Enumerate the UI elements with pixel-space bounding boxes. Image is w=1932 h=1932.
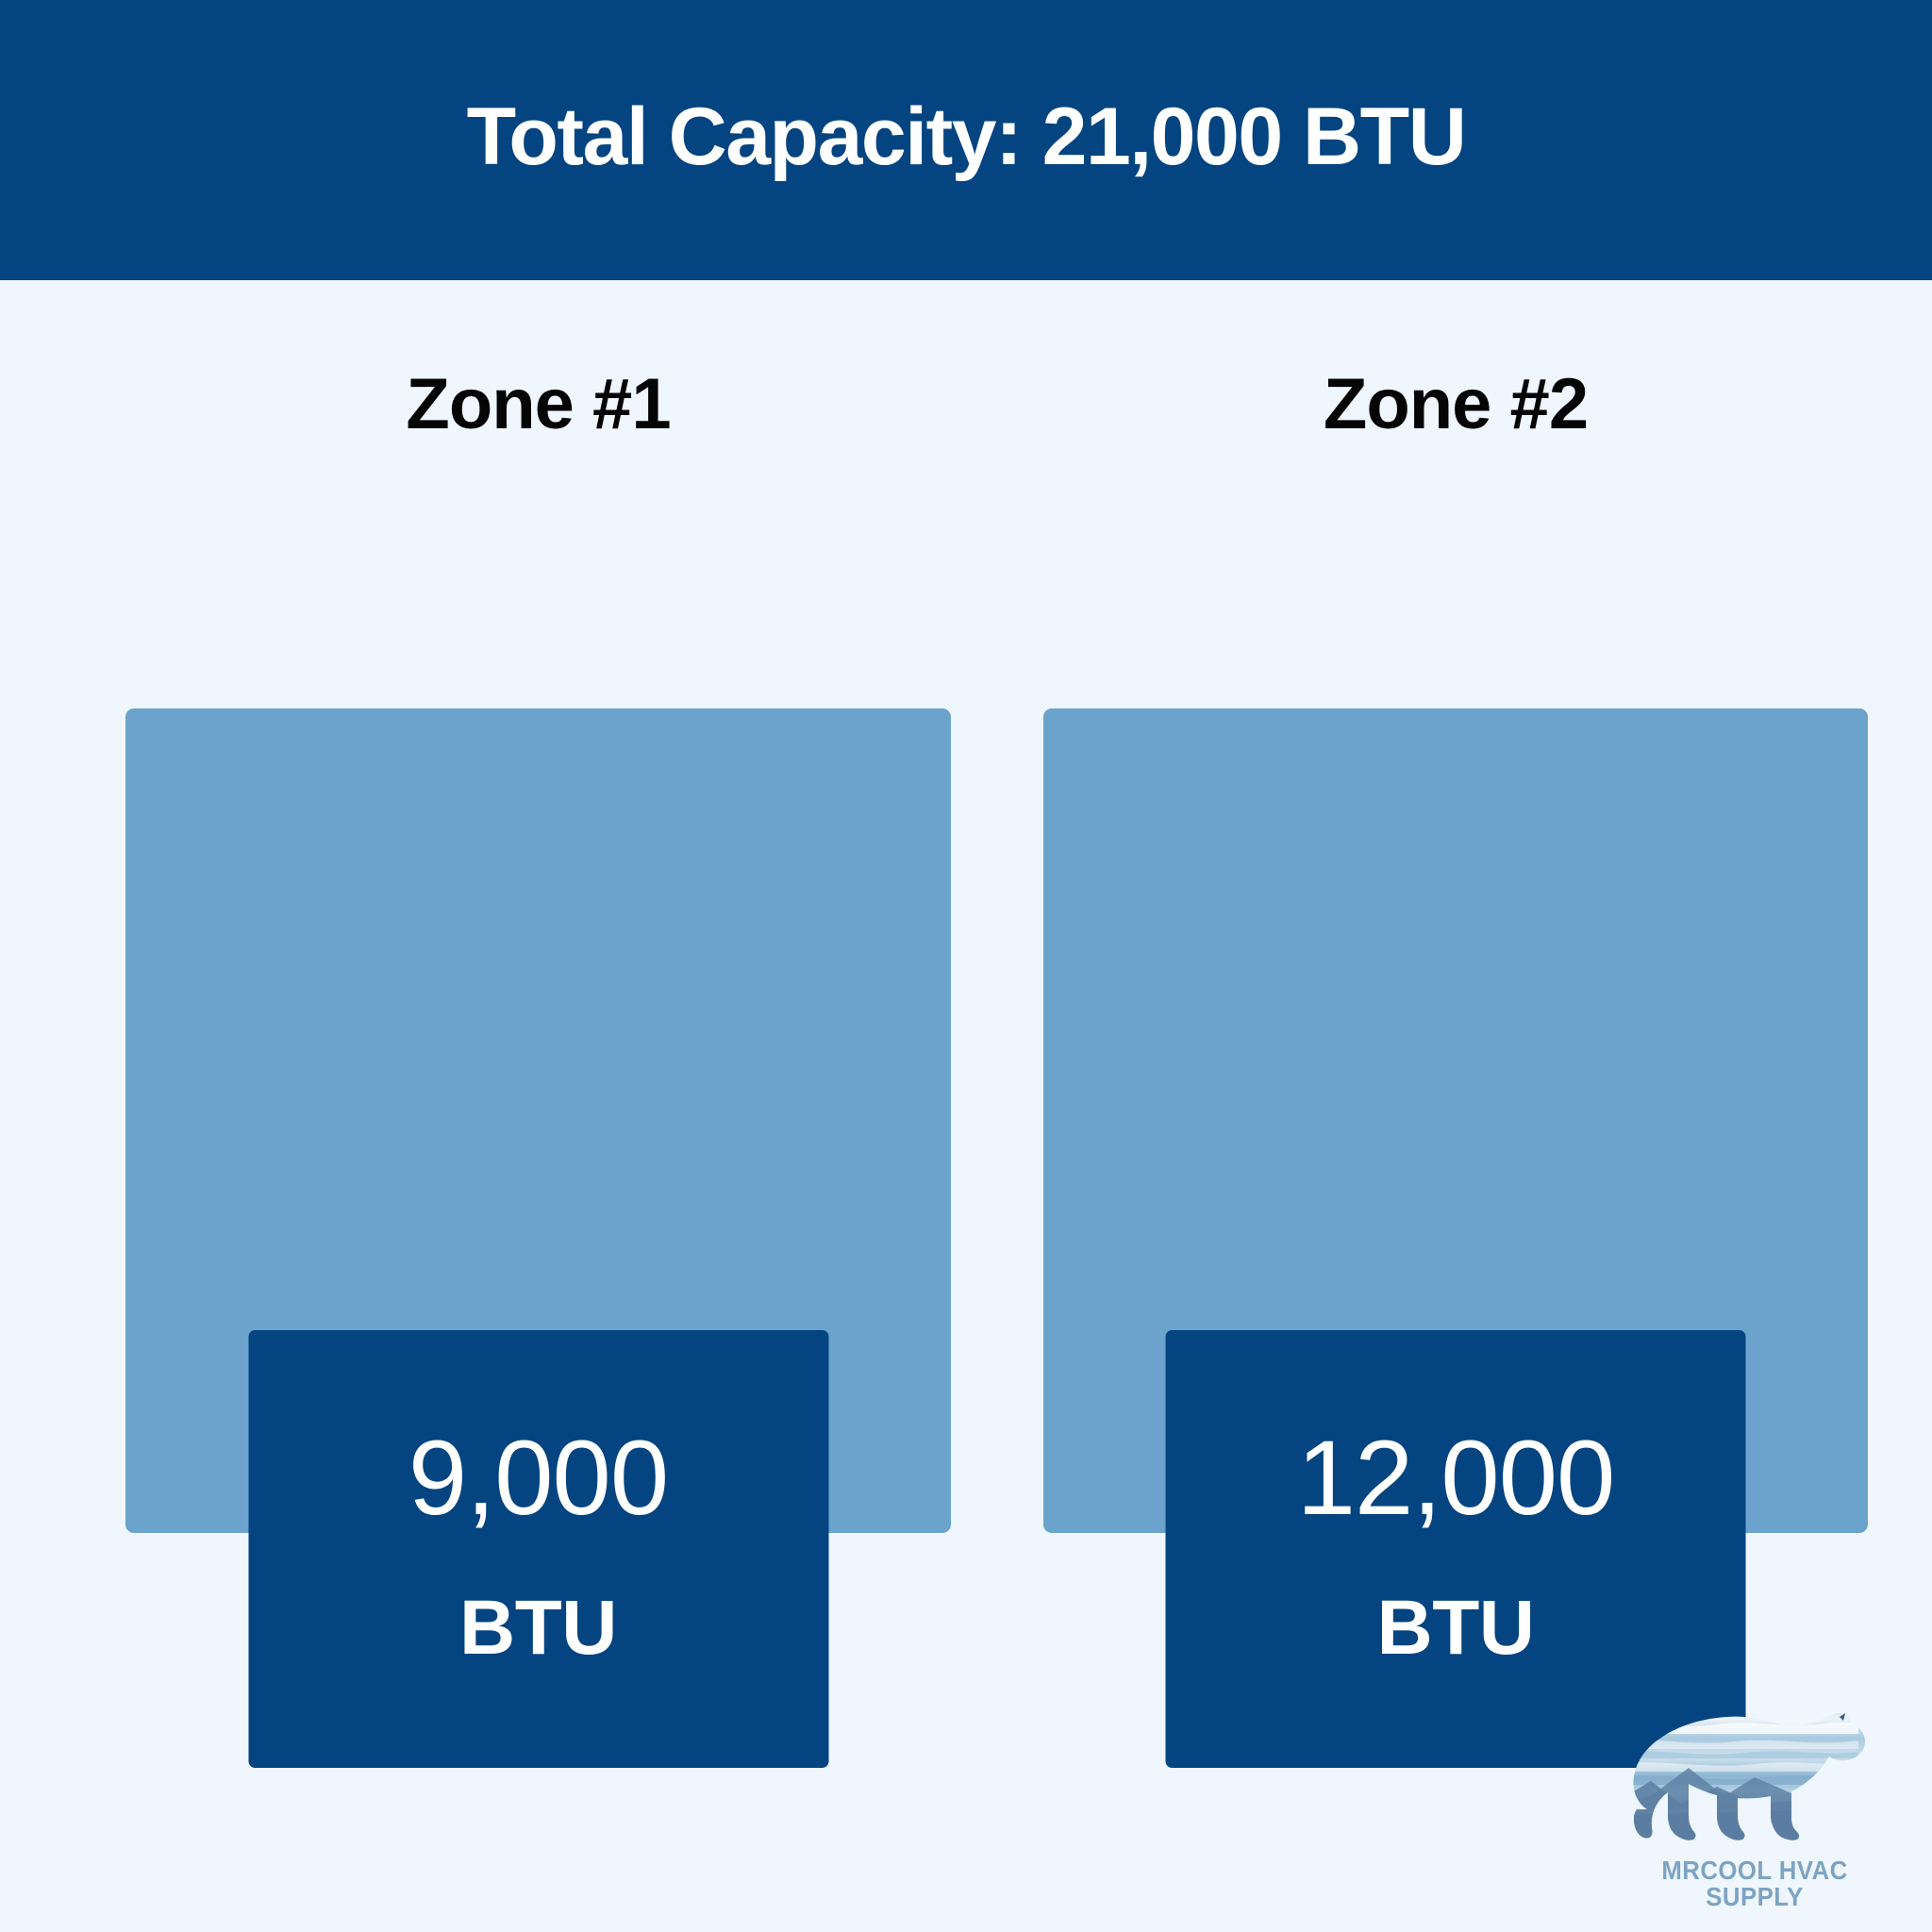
- zone-inner-box-1: 9,000 BTU: [248, 1330, 828, 1768]
- zone-btu-value-2: 12,000: [1297, 1425, 1615, 1531]
- polar-bear-icon: [1613, 1698, 1896, 1854]
- zone-label-1: Zone #1: [125, 369, 951, 441]
- header-bar: Total Capacity: 21,000 BTU: [0, 0, 1932, 280]
- zone-btu-value-1: 9,000: [408, 1425, 668, 1531]
- zone-outer-box-2: 12,000 BTU: [1043, 708, 1868, 1533]
- brand-wordmark: MRCOOL HVAC SUPPLY: [1616, 1857, 1893, 1910]
- zone-outer-box-1: 9,000 BTU: [125, 708, 951, 1533]
- brand-logo: MRCOOL HVAC SUPPLY: [1604, 1698, 1906, 1901]
- bear-silhouette-fill: [1613, 1698, 1896, 1854]
- page-title: Total Capacity: 21,000 BTU: [467, 96, 1466, 177]
- zone-label-2: Zone #2: [1043, 369, 1868, 441]
- zones-container: Zone #1 9,000 BTU Zone #2 12,000 BTU: [0, 280, 1932, 1601]
- zone-btu-unit-2: BTU: [1376, 1590, 1534, 1667]
- zone-btu-unit-1: BTU: [459, 1590, 617, 1667]
